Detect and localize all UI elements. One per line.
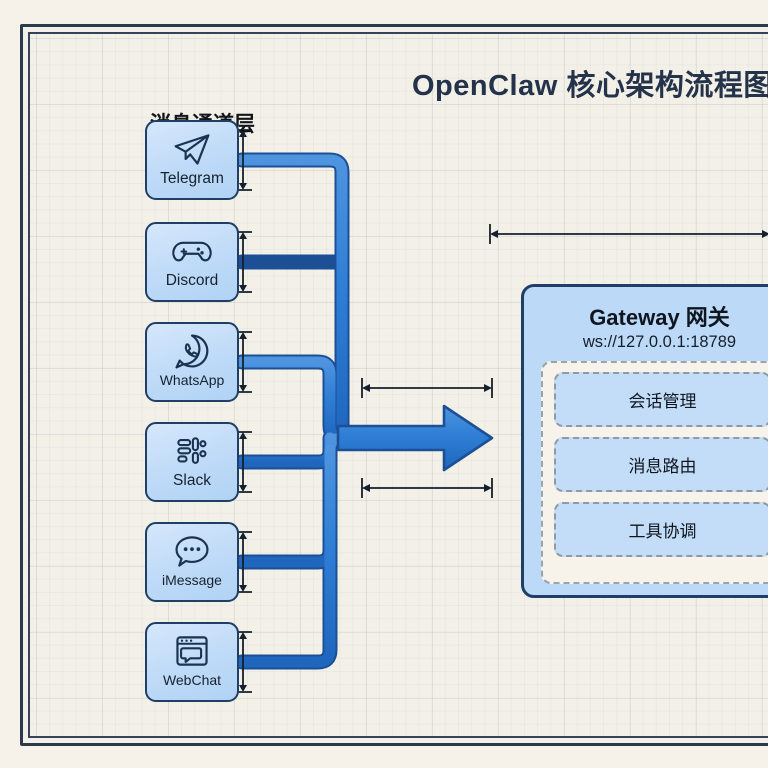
page-title: OpenClaw 核心架构流程图 [412,62,768,104]
gateway-module-session[interactable]: 会话管理 [554,372,768,427]
channel-box-discord[interactable]: Discord [145,222,239,302]
gateway-module-tooling[interactable]: 工具协调 [554,502,768,557]
gateway-module-container: 会话管理 消息路由 工具协调 [541,361,768,584]
slack-hash-icon [170,431,214,471]
browser-window-chat-icon [170,631,214,671]
inner-frame: OpenClaw 核心架构流程图 消息通道层 Telegram Discord [28,32,768,738]
gateway-panel[interactable]: Gateway 网关 ws://127.0.0.1:18789 会话管理 消息路… [521,284,768,598]
diagram-canvas: OpenClaw 核心架构流程图 消息通道层 Telegram Discord [0,0,768,768]
channel-box-imessage[interactable]: iMessage [145,522,239,602]
paper-plane-icon [170,129,214,169]
channel-label: WebChat [163,673,221,687]
module-label: 会话管理 [629,387,697,412]
game-controller-icon [170,231,214,271]
speech-bubble-dots-icon [170,531,214,571]
channel-label: iMessage [162,573,222,587]
module-label: 消息路由 [629,452,697,477]
channel-box-whatsapp[interactable]: WhatsApp [145,322,239,402]
channel-label: Telegram [160,171,224,187]
module-label: 工具协调 [629,517,697,542]
whatsapp-phone-bubble-icon [170,331,214,371]
channel-label: WhatsApp [160,373,225,387]
channel-label: Slack [173,473,211,489]
channel-box-telegram[interactable]: Telegram [145,120,239,200]
channel-box-webchat[interactable]: WebChat [145,622,239,702]
gateway-module-routing[interactable]: 消息路由 [554,437,768,492]
channel-label: Discord [166,273,219,289]
gateway-endpoint: ws://127.0.0.1:18789 [524,333,768,352]
channel-box-slack[interactable]: Slack [145,422,239,502]
gateway-title: Gateway 网关 [524,300,768,332]
